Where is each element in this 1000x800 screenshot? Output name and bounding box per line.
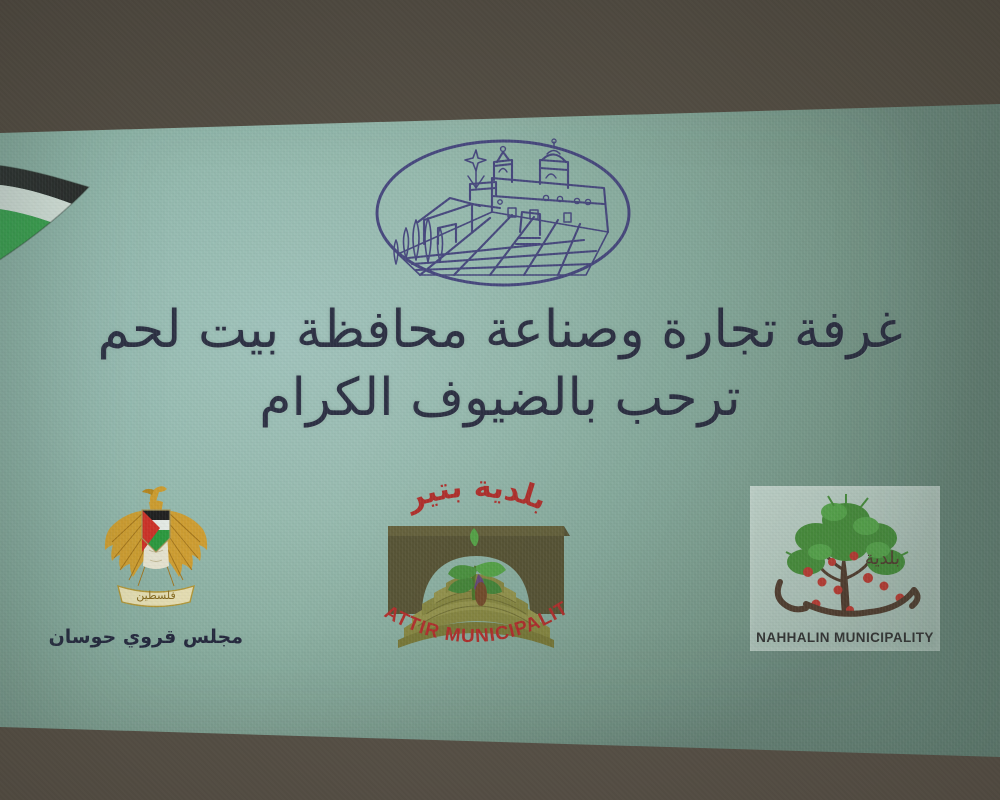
headline-line-2: ترحب بالضيوف الكرام: [40, 368, 960, 428]
eagle-of-saladin-icon: فلسطين: [96, 482, 216, 622]
svg-text:بلدية بتير: بلدية بتير: [400, 474, 552, 518]
husan-village-council-logo: فلسطين مجلس قروي حوسان: [68, 482, 243, 672]
husan-caption-arabic: مجلس قروي حوسان: [68, 626, 243, 648]
headline-line-1: غرفة تجارة وصناعة محافظة بيت لحم: [40, 300, 960, 360]
bethlehem-chamber-emblem-icon: [372, 136, 634, 291]
svg-text:بلدية: بلدية: [865, 548, 900, 569]
battir-municipality-logo: بلدية بتير: [368, 474, 583, 654]
battir-arch-terraces-icon: بلدية بتير: [368, 474, 583, 654]
page-title: غرفة تجارة وصناعة محافظة بيت لحم ترحب با…: [40, 300, 960, 429]
palestinian-flag: [0, 127, 122, 304]
nahhalin-caption-english: NAHHALIN MUNICIPALITY: [756, 630, 934, 645]
nahhalin-tree-icon: بلدية NAHHALIN MUNICIPALITY: [750, 486, 940, 651]
svg-text:فلسطين: فلسطين: [136, 589, 175, 602]
partner-logo-row: فلسطين مجلس قروي حوسان بلدية بتير: [0, 470, 1000, 680]
nahhalin-municipality-logo: بلدية NAHHALIN MUNICIPALITY: [750, 486, 940, 651]
palestinian-flag-icon: [0, 127, 122, 304]
